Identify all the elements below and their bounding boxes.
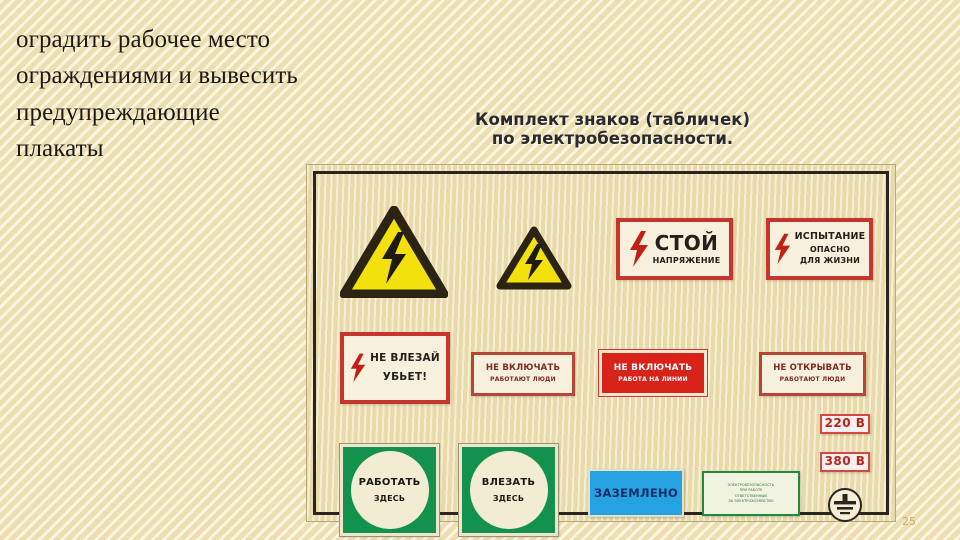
poster-inner-frame: СТОЙ НАПРЯЖЕНИЕ ИСПЫТАНИЕ ОПАСНО ДЛЯ ЖИЗ… bbox=[313, 171, 889, 515]
sign-line-1: НЕ ВКЛЮЧАТЬ bbox=[614, 363, 693, 373]
sign-rabotat-zdes: РАБОТАТЬ ЗДЕСЬ bbox=[340, 444, 439, 536]
sign-text-block: НЕ ВКЛЮЧАТЬ РАБОТАЮТ ЛЮДИ bbox=[486, 364, 560, 384]
sign-line-1: НЕ ВЛЕЗАЙ bbox=[370, 353, 440, 365]
poster-title-line-1: Комплект знаков (табличек) bbox=[405, 110, 820, 129]
sign-line-1: 380 В bbox=[825, 455, 866, 468]
green-circle-face: ВЛЕЗАТЬ ЗДЕСЬ bbox=[470, 451, 548, 529]
sign-text-block: НЕ ОТКРЫВАТЬ РАБОТАЮТ ЛЮДИ bbox=[773, 364, 852, 384]
sign-line-1: ЗАЗЕМЛЕНО bbox=[594, 487, 678, 500]
poster-title-line-2: по электробезопасности. bbox=[405, 129, 820, 148]
electrical-hazard-triangle-small bbox=[496, 226, 572, 290]
green-circle-face: РАБОТАТЬ ЗДЕСЬ bbox=[351, 451, 429, 529]
sign-stoy-napryazhenie: СТОЙ НАПРЯЖЕНИЕ bbox=[616, 218, 733, 280]
body-text-line-1: оградить рабочее место bbox=[16, 22, 316, 58]
sign-text-block: ИСПЫТАНИЕ ОПАСНО ДЛЯ ЖИЗНИ bbox=[795, 232, 866, 266]
sign-electrical-safety-label: ЭЛЕКТРОБЕЗОПАСНОСТЬ ПРИ РАБОТЕ ОТВЕТСТВЕ… bbox=[702, 471, 800, 516]
electrical-safety-signs-poster: СТОЙ НАПРЯЖЕНИЕ ИСПЫТАНИЕ ОПАСНО ДЛЯ ЖИЗ… bbox=[306, 164, 896, 522]
sign-ne-vklyuchat-rabotayut-lyudi: НЕ ВКЛЮЧАТЬ РАБОТАЮТ ЛЮДИ bbox=[471, 352, 575, 396]
body-text-line-3: предупреждающие bbox=[16, 95, 316, 131]
sign-text-block: НЕ ВЛЕЗАЙ УБЬЕТ! bbox=[370, 353, 440, 384]
sign-ne-vklyuchat-rabota-na-linii: НЕ ВКЛЮЧАТЬ РАБОТА НА ЛИНИИ bbox=[599, 350, 707, 396]
sign-ispytanie-opasno-dlya-zhizni: ИСПЫТАНИЕ ОПАСНО ДЛЯ ЖИЗНИ bbox=[766, 218, 873, 280]
sign-line-2: УБЬЕТ! bbox=[370, 372, 440, 384]
sign-zazemleno: ЗАЗЕМЛЕНО bbox=[588, 469, 684, 517]
sign-text-block: НЕ ВКЛЮЧАТЬ РАБОТА НА ЛИНИИ bbox=[614, 363, 693, 384]
red-lightning-bolt-icon bbox=[774, 232, 791, 266]
sign-text-block: СТОЙ НАПРЯЖЕНИЕ bbox=[653, 232, 721, 265]
earth-ground-icon bbox=[826, 486, 864, 524]
lightning-bolt-triangle-icon bbox=[496, 226, 572, 290]
electrical-hazard-triangle-large bbox=[340, 206, 448, 298]
sign-line-1: 220 В bbox=[825, 417, 866, 430]
sign-vlezat-zdes: ВЛЕЗАТЬ ЗДЕСЬ bbox=[459, 444, 558, 536]
slide-canvas: оградить рабочее место ограждениями и вы… bbox=[0, 0, 960, 540]
sign-line-1: НЕ ОТКРЫВАТЬ bbox=[773, 364, 852, 374]
poster-title: Комплект знаков (табличек) по электробез… bbox=[405, 110, 820, 149]
red-lightning-bolt-icon bbox=[629, 230, 649, 268]
sign-line-1: СТОЙ bbox=[653, 232, 721, 254]
body-text-line-4: плакаты bbox=[16, 131, 316, 167]
sign-voltage-220: 220 В bbox=[820, 414, 870, 434]
sign-line-2: РАБОТАЮТ ЛЮДИ bbox=[773, 377, 852, 384]
sign-line-2: ОПАСНО bbox=[795, 246, 866, 255]
red-lightning-bolt-icon bbox=[350, 349, 366, 387]
sign-ne-otkryvat-rabotayut-lyudi: НЕ ОТКРЫВАТЬ РАБОТАЮТ ЛЮДИ bbox=[759, 352, 866, 396]
slide-body-text: оградить рабочее место ограждениями и вы… bbox=[16, 22, 316, 167]
slide-page-number: 25 bbox=[902, 515, 916, 528]
sign-line-2: ЗДЕСЬ bbox=[493, 494, 524, 504]
sign-line-2: НАПРЯЖЕНИЕ bbox=[653, 257, 721, 266]
lightning-bolt-triangle-icon bbox=[340, 206, 448, 298]
sign-line-2: РАБОТА НА ЛИНИИ bbox=[614, 377, 693, 384]
sign-voltage-380: 380 В bbox=[820, 452, 870, 472]
sign-line-2: РАБОТАЮТ ЛЮДИ bbox=[486, 377, 560, 384]
label-line-4: ЗА ЭЛЕКТРОХОЗЯЙСТВО bbox=[728, 499, 773, 504]
sign-line-1: РАБОТАТЬ bbox=[359, 477, 421, 489]
body-text-line-2: ограждениями и вывесить bbox=[16, 58, 316, 94]
sign-line-1: ВЛЕЗАТЬ bbox=[482, 477, 535, 489]
ground-earth-symbol bbox=[826, 486, 864, 529]
sign-line-3: ДЛЯ ЖИЗНИ bbox=[795, 257, 866, 266]
sign-line-1: ИСПЫТАНИЕ bbox=[795, 232, 866, 243]
sign-ne-vlezay-ubyet: НЕ ВЛЕЗАЙ УБЬЕТ! bbox=[340, 332, 450, 404]
sign-line-2: ЗДЕСЬ bbox=[374, 494, 405, 504]
sign-line-1: НЕ ВКЛЮЧАТЬ bbox=[486, 364, 560, 374]
